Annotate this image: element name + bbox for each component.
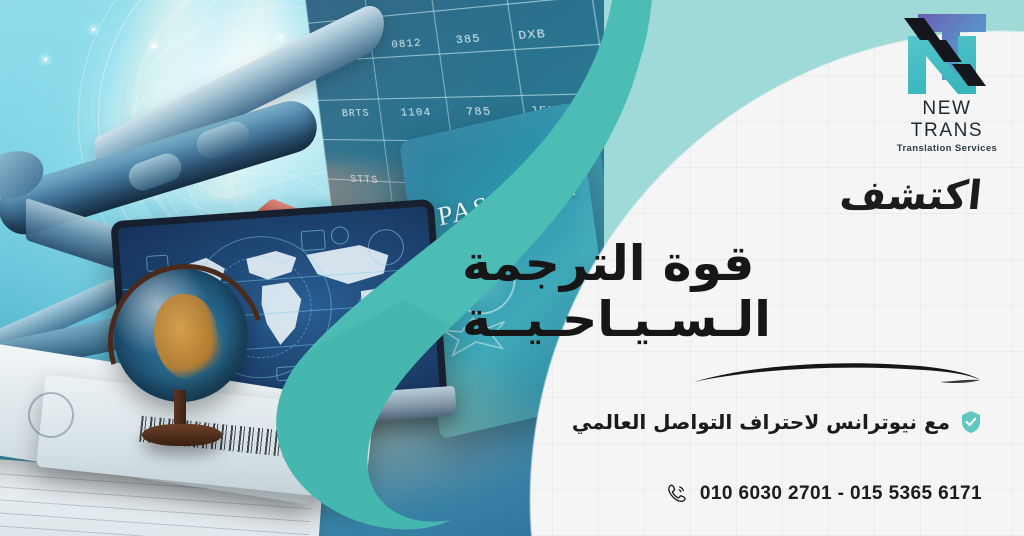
subtitle-text: مع نيوترانس لاحتراف التواصل العالمي — [572, 410, 950, 434]
contact-row[interactable]: 010 6030 2701 - 015 5365 6171 — [665, 482, 982, 505]
headline-line-1: قوة الترجمة — [462, 235, 754, 292]
kicker-text: اكتشف — [838, 176, 984, 216]
star-sparkle — [280, 36, 283, 39]
globe-base — [142, 424, 222, 446]
phone-numbers: 010 6030 2701 - 015 5365 6171 — [700, 483, 982, 505]
brand-tagline: Translation Services — [884, 143, 1010, 154]
brand-logo[interactable]: NEW TRANS Translation Services — [884, 6, 1010, 154]
star-sparkle — [92, 28, 95, 31]
promo-banner: CDG7820753STTS DXB3850812ONTR JFK7851104… — [0, 0, 1024, 536]
brand-name: NEW TRANS — [884, 98, 1010, 142]
shield-check-icon — [960, 410, 982, 434]
headline-line-2: الـسـيـاحـيــة — [462, 292, 982, 348]
brush-underline-icon — [688, 358, 988, 392]
hud-chip — [301, 230, 326, 252]
hud-chip — [276, 365, 305, 381]
page-title: قوة الترجمة الـسـيـاحـيــة — [462, 236, 982, 348]
nt-monogram-icon — [892, 6, 1002, 102]
subtitle-row: مع نيوترانس لاحتراف التواصل العالمي — [572, 410, 982, 434]
hud-chip — [359, 296, 381, 325]
desk-globe — [108, 268, 258, 448]
phone-call-icon — [665, 482, 688, 505]
